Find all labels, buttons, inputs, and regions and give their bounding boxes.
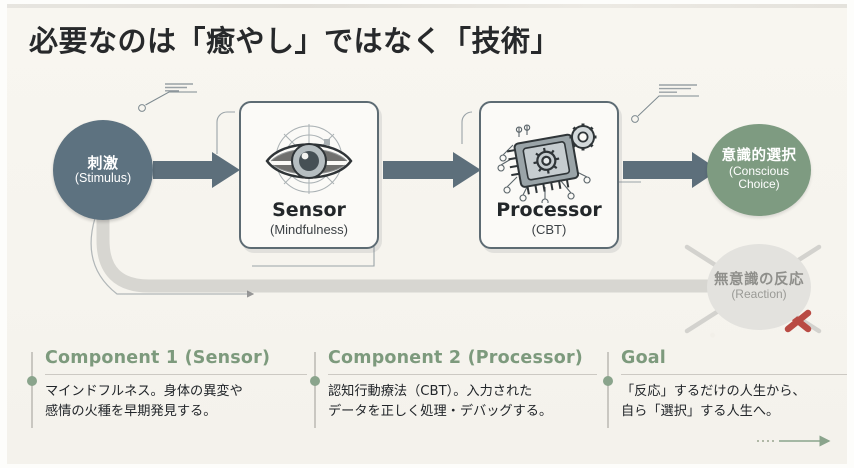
column-component-1: Component 1 (Sensor) マインドフルネス。身体の異変や 感情の… [29, 348, 307, 423]
column-rule-vertical [607, 352, 609, 428]
flow-arrow-1 [153, 152, 240, 188]
column-rule-vertical [31, 352, 33, 428]
column-goal: Goal 「反応」するだけの人生から、 自ら「選択」する人生へ。 [605, 348, 847, 423]
node-stimulus-en: (Stimulus) [75, 171, 131, 185]
node-stimulus-jp: 刺激 [87, 155, 118, 172]
column-bullet-dot [310, 376, 320, 386]
callout-left-icon [139, 84, 197, 111]
slide-root: 必要なのは「癒やし」ではなく「技術」 [0, 0, 854, 468]
column-component-2: Component 2 (Processor) 認知行動療法（CBT）。入力され… [312, 348, 597, 423]
column-2-heading: Component 2 (Processor) [328, 348, 597, 368]
node-stimulus[interactable]: 刺激 (Stimulus) [53, 120, 153, 220]
node-choice-en1: (Conscious [729, 165, 789, 178]
node-choice-jp: 意識的選択 [722, 148, 797, 164]
node-conscious-choice[interactable]: 意識的選択 (Conscious Choice) [707, 124, 811, 216]
flow-arrow-3 [623, 152, 719, 188]
bypass-path [91, 214, 785, 302]
column-1-body: マインドフルネス。身体の異変や 感情の火種を早期発見する。 [45, 382, 307, 423]
component-columns: Component 1 (Sensor) マインドフルネス。身体の異変や 感情の… [7, 348, 847, 468]
node-choice-en2: Choice) [738, 178, 779, 191]
column-rule-vertical [314, 352, 316, 428]
column-bullet-dot [27, 376, 37, 386]
node-sensor[interactable]: Sensor (Mindfulness) [239, 101, 379, 249]
node-processor-sub: (CBT) [532, 222, 567, 237]
eye-icon [241, 115, 377, 203]
column-divider [45, 374, 307, 375]
node-reaction-jp: 無意識の反応 [714, 272, 804, 288]
node-sensor-sub: (Mindfulness) [270, 222, 348, 237]
node-reaction-en: (Reaction) [731, 288, 786, 301]
cpu-chip-icon [481, 115, 617, 203]
column-2-body: 認知行動療法（CBT）。入力された データを正しく処理・デバッグする。 [328, 382, 597, 423]
column-3-body: 「反応」するだけの人生から、 自ら「選択」する人生へ。 [621, 382, 847, 423]
callout-right-icon [632, 85, 699, 122]
node-reaction[interactable]: 無意識の反応 (Reaction) [707, 244, 811, 330]
column-1-heading: Component 1 (Sensor) [45, 348, 307, 368]
column-bullet-dot [603, 376, 613, 386]
column-divider [328, 374, 597, 375]
column-divider [621, 374, 847, 375]
column-3-heading: Goal [621, 348, 847, 368]
flow-arrow-2 [383, 152, 481, 188]
node-processor[interactable]: Processor (CBT) [479, 101, 619, 249]
